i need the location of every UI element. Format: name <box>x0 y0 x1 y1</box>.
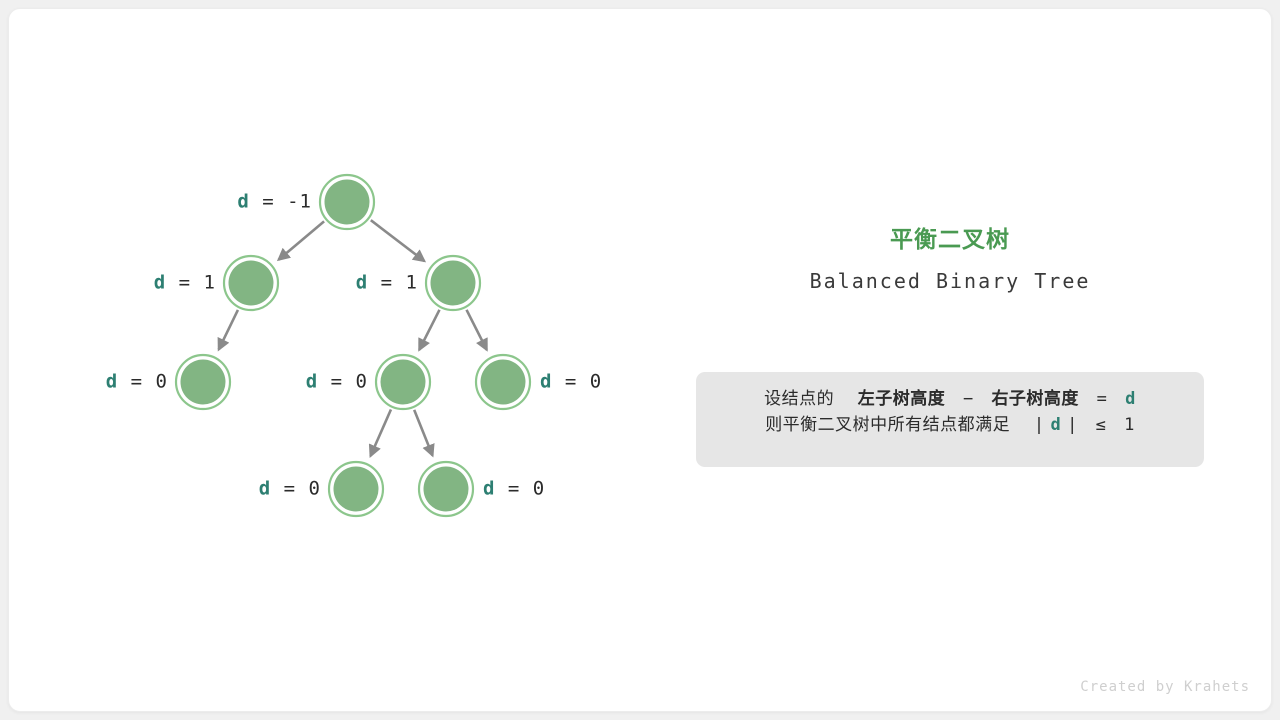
legend-bound-value: 1 <box>1124 415 1135 435</box>
legend-equals-sign: = <box>1097 389 1108 409</box>
balance-variable-d: d <box>106 371 118 393</box>
diagram-canvas: d = -1d = 1d = 1d = 0d = 0d = 0d = 0d = … <box>0 0 1280 720</box>
footer-credit: Created by Krahets <box>1080 679 1250 695</box>
tree-edges <box>219 220 487 456</box>
balance-value: = 0 <box>271 478 321 500</box>
tree-node-fill <box>481 360 526 405</box>
tree-node[interactable] <box>376 355 430 409</box>
tree-edge <box>219 310 238 350</box>
legend-line-1: 设结点的 左子树高度 − 右子树高度 = d <box>696 386 1204 412</box>
balance-variable-d: d <box>540 371 552 393</box>
balance-variable-d: d <box>483 478 495 500</box>
balance-value: = -1 <box>250 191 312 213</box>
tree-node[interactable] <box>476 355 530 409</box>
legend-line-2: 则平衡二叉树中所有结点都满足 | d | ≤ 1 <box>696 412 1204 438</box>
tree-node[interactable] <box>426 256 480 310</box>
tree-node-fill <box>334 467 379 512</box>
balance-value: = 0 <box>552 371 602 393</box>
tree-edge <box>419 310 439 350</box>
legend-term-left: 左子树高度 <box>858 389 946 409</box>
node-balance-label: d = -1 <box>237 193 312 212</box>
node-balance-label: d = 0 <box>306 373 368 392</box>
balance-variable-d: d <box>306 371 318 393</box>
tree-edge <box>370 409 390 456</box>
title-block: 平衡二叉树 Balanced Binary Tree <box>696 226 1204 296</box>
balance-variable-d: d <box>356 272 368 294</box>
tree-edge <box>414 410 432 456</box>
tree-edge <box>279 221 325 259</box>
page-title-en: Balanced Binary Tree <box>696 266 1204 296</box>
balance-value: = 0 <box>495 478 545 500</box>
tree-node-fill <box>431 261 476 306</box>
balance-variable-d: d <box>259 478 271 500</box>
balance-variable-d: d <box>154 272 166 294</box>
tree-node[interactable] <box>419 462 473 516</box>
tree-node[interactable] <box>224 256 278 310</box>
node-balance-label: d = 0 <box>106 373 168 392</box>
tree-node-fill <box>381 360 426 405</box>
tree-node-fill <box>325 180 370 225</box>
page-title-cn: 平衡二叉树 <box>696 226 1204 256</box>
legend-prefix-2: 则平衡二叉树中所有结点都满足 <box>765 415 1010 435</box>
node-balance-label: d = 0 <box>259 480 321 499</box>
tree-node-fill <box>181 360 226 405</box>
tree-node-fill <box>229 261 274 306</box>
abs-bar-close: | <box>1067 415 1078 435</box>
tree-nodes <box>176 175 530 516</box>
legend-prefix-1: 设结点的 <box>764 389 834 409</box>
balance-variable-d: d <box>237 191 249 213</box>
legend-minus-sign: − <box>963 389 974 409</box>
legend-term-right: 右子树高度 <box>991 389 1079 409</box>
balance-value: = 1 <box>166 272 216 294</box>
node-balance-label: d = 1 <box>356 274 418 293</box>
tree-node[interactable] <box>176 355 230 409</box>
definition-callout: 设结点的 左子树高度 − 右子树高度 = d 则平衡二叉树中所有结点都满足 | … <box>696 372 1204 467</box>
tree-edge <box>371 220 425 261</box>
balance-value: = 1 <box>368 272 418 294</box>
abs-bar-open: | <box>1034 415 1045 435</box>
tree-edge <box>467 310 487 350</box>
legend-variable-d-2: d <box>1050 415 1061 435</box>
tree-node[interactable] <box>329 462 383 516</box>
balance-value: = 0 <box>118 371 168 393</box>
balance-value: = 0 <box>318 371 368 393</box>
binary-tree-graphic <box>0 0 1280 720</box>
tree-node[interactable] <box>320 175 374 229</box>
legend-comparator: ≤ <box>1096 415 1107 435</box>
node-balance-label: d = 0 <box>483 480 545 499</box>
node-balance-label: d = 0 <box>540 373 602 392</box>
node-balance-label: d = 1 <box>154 274 216 293</box>
legend-variable-d-1: d <box>1125 389 1136 409</box>
tree-node-fill <box>424 467 469 512</box>
